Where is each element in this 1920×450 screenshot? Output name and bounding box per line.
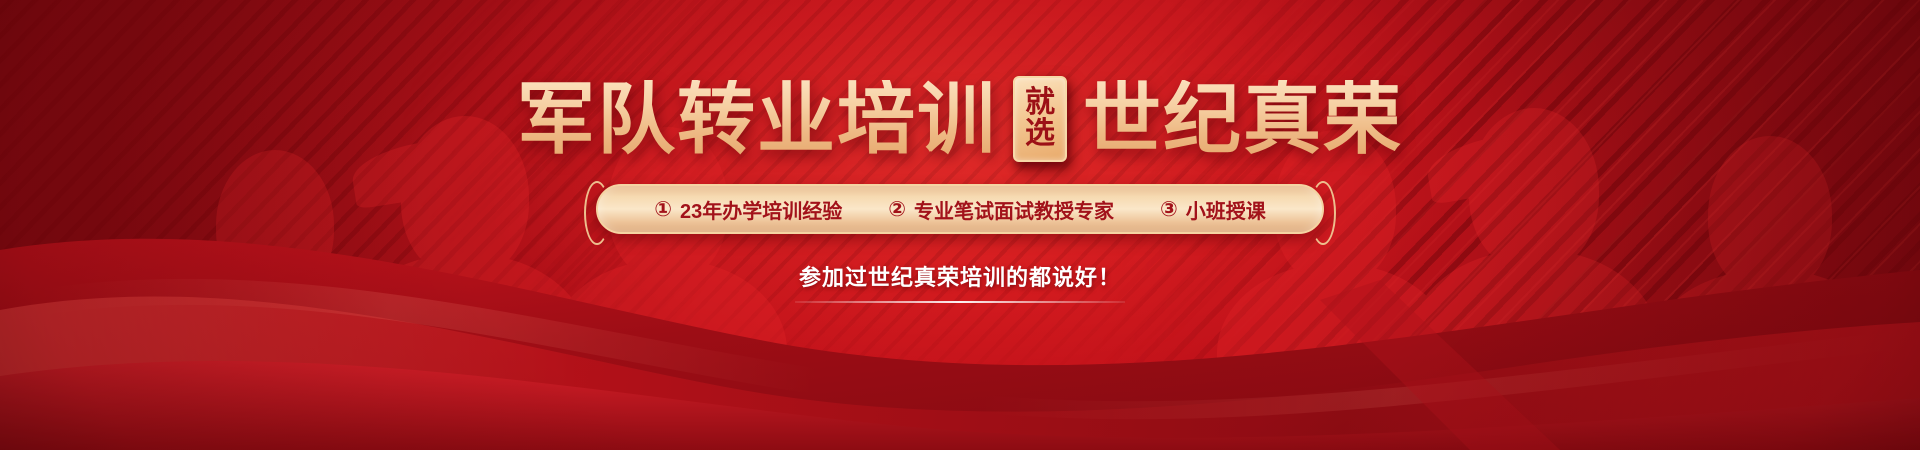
- banner-content: 军队转业培训 就 选 世纪真荣 ① 23年办学培训经验 ② 专业笔试面试教授专家…: [0, 0, 1920, 450]
- banner-headline: 军队转业培训 就 选 世纪真荣: [517, 76, 1403, 162]
- tagline-underline: [795, 301, 1125, 303]
- badge-char-top: 就: [1025, 88, 1055, 119]
- feature-item-2: ② 专业笔试面试教授专家: [888, 195, 1114, 224]
- circled-number-3-icon: ③: [1160, 199, 1178, 220]
- feature-label-3: 小班授课: [1186, 195, 1266, 224]
- feature-label-1: 23年办学培训经验: [680, 195, 842, 224]
- circled-number-2-icon: ②: [888, 199, 906, 220]
- feature-label-2: 专业笔试面试教授专家: [914, 195, 1114, 224]
- circled-number-1-icon: ①: [654, 199, 672, 220]
- badge-char-bottom: 选: [1025, 119, 1055, 150]
- headline-right-text: 世纪真荣: [1083, 80, 1403, 158]
- headline-left-text: 军队转业培训: [517, 80, 997, 158]
- feature-item-3: ③ 小班授课: [1160, 195, 1266, 224]
- feature-item-1: ① 23年办学培训经验: [654, 195, 842, 224]
- tagline-block: 参加过世纪真荣培训的都说好！: [795, 260, 1125, 303]
- promo-banner: 军队转业培训 就 选 世纪真荣 ① 23年办学培训经验 ② 专业笔试面试教授专家…: [0, 0, 1920, 450]
- jiuxuan-badge: 就 选: [1013, 76, 1067, 162]
- features-pill: ① 23年办学培训经验 ② 专业笔试面试教授专家 ③ 小班授课: [596, 184, 1324, 234]
- tagline-text: 参加过世纪真荣培训的都说好！: [799, 260, 1121, 292]
- features-pill-wrapper: ① 23年办学培训经验 ② 专业笔试面试教授专家 ③ 小班授课: [596, 184, 1324, 234]
